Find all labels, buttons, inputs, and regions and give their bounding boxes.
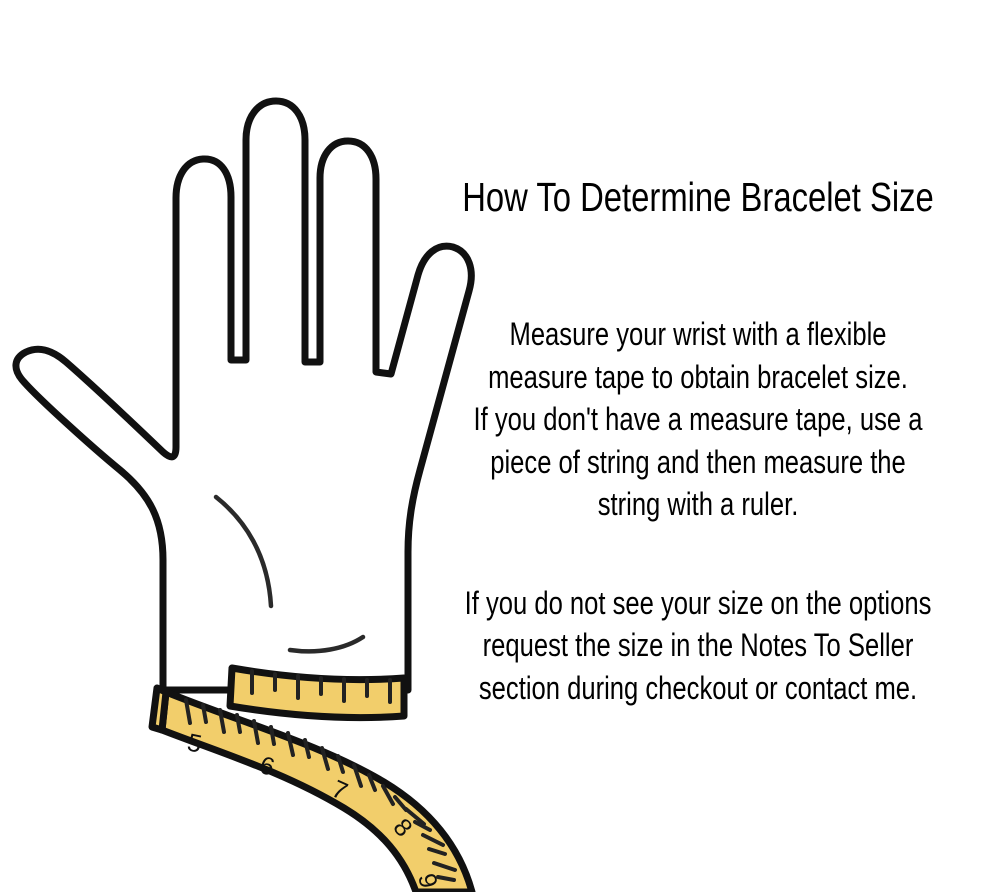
measure-line-2: measure tape to obtain bracelet size.	[458, 356, 938, 399]
text-column: How To Determine Bracelet Size Measure y…	[398, 176, 998, 709]
tape-end-cap	[152, 688, 166, 730]
measure-line-4: piece of string and then measure the	[458, 441, 938, 484]
notes-line-1: If you do not see your size on the optio…	[458, 582, 938, 625]
page-title: How To Determine Bracelet Size	[458, 176, 938, 219]
measure-line-3: If you don't have a measure tape, use a	[458, 398, 938, 441]
notes-line-2: request the size in the Notes To Seller	[458, 624, 938, 667]
notes-line-3: section during checkout or contact me.	[458, 667, 938, 710]
measure-line-5: string with a ruler.	[458, 483, 938, 526]
tape-front-band	[162, 692, 472, 892]
measure-line-1: Measure your wrist with a flexible	[458, 313, 938, 356]
bracelet-size-infographic: 5 6 7 8 9 How To Determine Bracelet Size…	[0, 0, 1000, 892]
measure-instructions-paragraph: Measure your wrist with a flexible measu…	[458, 313, 938, 526]
notes-to-seller-paragraph: If you do not see your size on the optio…	[458, 582, 938, 710]
